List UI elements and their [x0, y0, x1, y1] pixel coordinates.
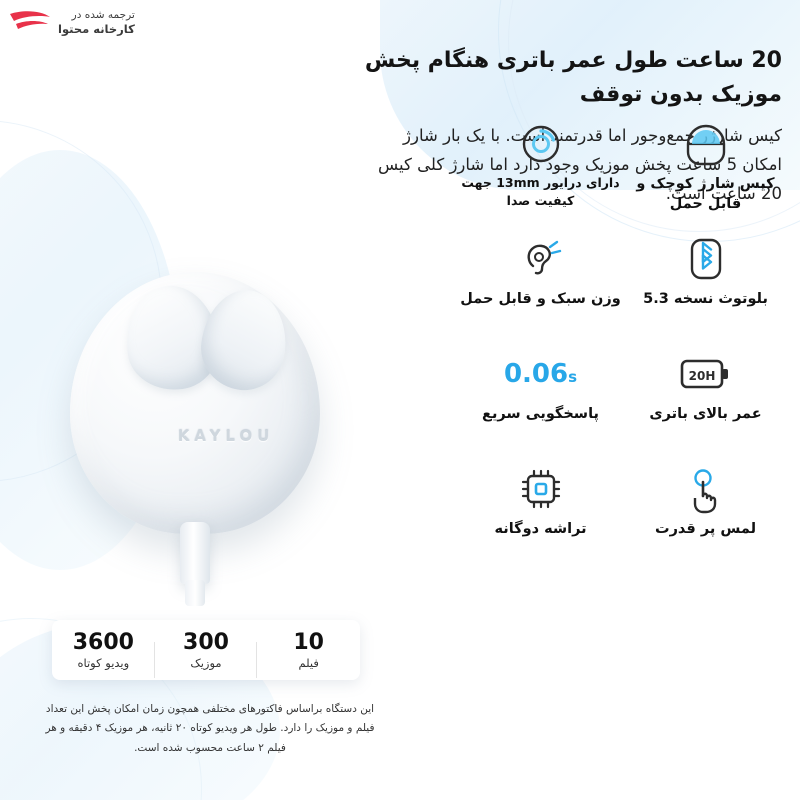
feature-grid: کیس شارژ کوچک و قابل حمل دارای درایور 13… — [458, 110, 788, 570]
ear-weight-icon — [514, 231, 568, 287]
stat-label: ویدیو کوتاه — [52, 656, 155, 670]
svg-text:20H: 20H — [688, 369, 715, 383]
stats-panel: 10 فیلم 300 موزیک 3600 ویدیو کوتاه — [52, 620, 360, 680]
driver-circle-icon — [514, 116, 568, 172]
response-time-unit: s — [568, 368, 577, 386]
touch-control-icon — [679, 461, 733, 517]
feature-dual-chip: تراشه دوگانه — [458, 455, 623, 570]
charging-case-body: KAYLOU — [70, 272, 320, 534]
response-time-value: 0.06s — [504, 359, 577, 389]
stat-item: 10 فیلم — [257, 630, 360, 670]
feature-touch-control: لمس پر قدرت — [623, 455, 788, 570]
watermark-line1: ترجمه شده در — [72, 9, 135, 21]
watermark-text: ترجمه شده در کارخانه محتوا — [58, 8, 135, 38]
feature-response-time: 0.06s پاسخگویی سریع — [458, 340, 623, 455]
product-image: KAYLOU — [38, 250, 368, 600]
stat-item: 3600 ویدیو کوتاه — [52, 630, 155, 670]
bluetooth-icon — [679, 231, 733, 287]
charging-case-icon — [679, 116, 733, 172]
feature-battery: 20H عمر بالای باتری — [623, 340, 788, 455]
feature-caption: بلوتوث نسخه 5.3 — [643, 289, 768, 309]
response-time-icon: 0.06s — [504, 346, 577, 402]
watermark-line2: کارخانه محتوا — [58, 22, 135, 38]
feature-bluetooth: بلوتوث نسخه 5.3 — [623, 225, 788, 340]
stat-value: 3600 — [52, 630, 155, 655]
feature-caption: کیس شارژ کوچک و قابل حمل — [623, 174, 788, 215]
feature-caption: پاسخگویی سریع — [482, 404, 599, 424]
feature-caption: عمر بالای باتری — [649, 404, 761, 424]
usb-cable-tip — [185, 580, 205, 606]
feature-charging-case: کیس شارژ کوچک و قابل حمل — [623, 110, 788, 225]
stat-value: 10 — [257, 630, 360, 655]
feature-caption: تراشه دوگانه — [494, 519, 586, 539]
page-title: 20 ساعت طول عمر باتری هنگام پخش موزیک بد… — [362, 44, 782, 112]
feature-caption: لمس پر قدرت — [655, 519, 756, 539]
usb-cable — [180, 522, 210, 584]
stat-value: 300 — [155, 630, 258, 655]
footnote-text: این دستگاه براساس فاکتورهای مختلفی همچون… — [40, 700, 380, 758]
response-time-number: 0.06 — [504, 359, 568, 389]
chip-icon — [514, 461, 568, 517]
stat-label: فیلم — [257, 656, 360, 670]
stat-item: 300 موزیک — [155, 630, 258, 670]
swoosh-logo-icon — [8, 8, 52, 38]
feature-caption: وزن سبک و قابل حمل — [460, 289, 620, 309]
brand-emboss-label: KAYLOU — [126, 427, 326, 445]
feature-caption: دارای درایور 13mm جهت کیفیت صدا — [458, 174, 623, 209]
battery-20h-icon: 20H — [674, 346, 738, 402]
earbud-right — [196, 285, 292, 394]
feature-lightweight: وزن سبک و قابل حمل — [458, 225, 623, 340]
feature-driver: دارای درایور 13mm جهت کیفیت صدا — [458, 110, 623, 225]
stat-label: موزیک — [155, 656, 258, 670]
watermark: ترجمه شده در کارخانه محتوا — [0, 0, 186, 46]
